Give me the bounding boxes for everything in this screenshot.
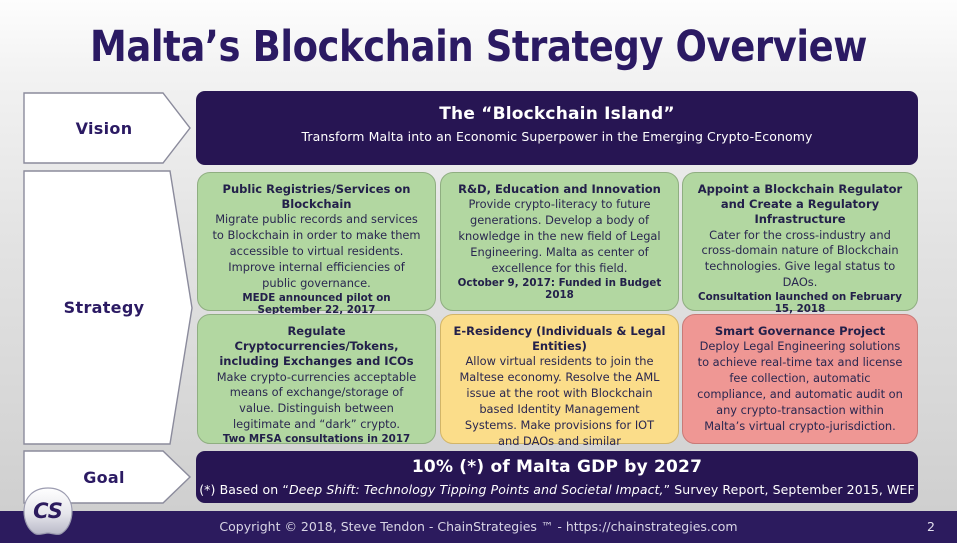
- strategy-card-status: Two MFSA consultations in 2017: [223, 433, 410, 447]
- goal-banner: 10% (*) of Malta GDP by 2027 (*) Based o…: [196, 451, 918, 503]
- strategy-card-status: October 9, 2017: Funded in Budget 2018: [452, 277, 667, 303]
- strategy-card[interactable]: R&D, Education and Innovation Provide cr…: [440, 172, 679, 311]
- row-label-strategy: Strategy: [24, 171, 190, 444]
- vision-subline: Transform Malta into an Economic Superpo…: [196, 129, 918, 144]
- footer-bar: Copyright © 2018, Steve Tendon - ChainSt…: [0, 511, 957, 543]
- goal-headline: 10% (*) of Malta GDP by 2027: [196, 457, 918, 477]
- strategy-card-body: Provide crypto-literacy to future genera…: [452, 197, 667, 277]
- strategy-card[interactable]: Regulate Cryptocurrencies/Tokens, includ…: [197, 314, 436, 444]
- strategy-card-body: Cater for the cross-industry and cross-d…: [694, 228, 906, 292]
- page-number: 2: [927, 511, 935, 543]
- row-label-vision: Vision: [24, 93, 190, 163]
- goal-footnote-prefix: (*) Based on “: [199, 482, 289, 497]
- strategy-card-title: Public Registries/Services on Blockchain: [209, 182, 424, 212]
- strategy-card[interactable]: Public Registries/Services on Blockchain…: [197, 172, 436, 311]
- page-title: Malta’s Blockchain Strategy Overview: [67, 22, 890, 72]
- logo-text: CS: [33, 499, 63, 523]
- strategy-card-body: Deploy Legal Engineering solutions to ac…: [694, 339, 906, 439]
- strategy-card-body: Make crypto-currencies acceptable means …: [209, 370, 424, 434]
- strategy-card-title: E-Residency (Individuals & Legal Entitie…: [452, 324, 667, 354]
- slide-canvas: Malta’s Blockchain Strategy Overview Vis…: [0, 0, 957, 543]
- strategy-card-title: Appoint a Blockchain Regulator and Creat…: [694, 182, 906, 228]
- footer-copyright: Copyright © 2018, Steve Tendon - ChainSt…: [0, 511, 957, 543]
- strategy-card[interactable]: E-Residency (Individuals & Legal Entitie…: [440, 314, 679, 444]
- strategy-card[interactable]: Appoint a Blockchain Regulator and Creat…: [682, 172, 918, 311]
- vision-headline: The “Blockchain Island”: [196, 104, 918, 124]
- strategy-card-title: Smart Governance Project: [715, 324, 885, 339]
- row-label-strategy-text: Strategy: [64, 298, 145, 317]
- goal-footnote-suffix: ” Survey Report, September 2015, WEF: [664, 482, 915, 497]
- strategy-card[interactable]: Smart Governance Project Deploy Legal En…: [682, 314, 918, 444]
- row-label-goal-text: Goal: [83, 468, 125, 487]
- goal-footnote: (*) Based on “Deep Shift: Technology Tip…: [196, 482, 918, 497]
- row-label-vision-text: Vision: [76, 119, 133, 138]
- goal-footnote-title: Deep Shift: Technology Tipping Points an…: [289, 482, 664, 497]
- chainstrategies-logo: CS: [22, 487, 74, 537]
- strategy-card-title: Regulate Cryptocurrencies/Tokens, includ…: [209, 324, 424, 370]
- vision-banner: The “Blockchain Island” Transform Malta …: [196, 91, 918, 165]
- strategy-card-title: R&D, Education and Innovation: [458, 182, 661, 197]
- strategy-card-body: Migrate public records and services to B…: [209, 212, 424, 292]
